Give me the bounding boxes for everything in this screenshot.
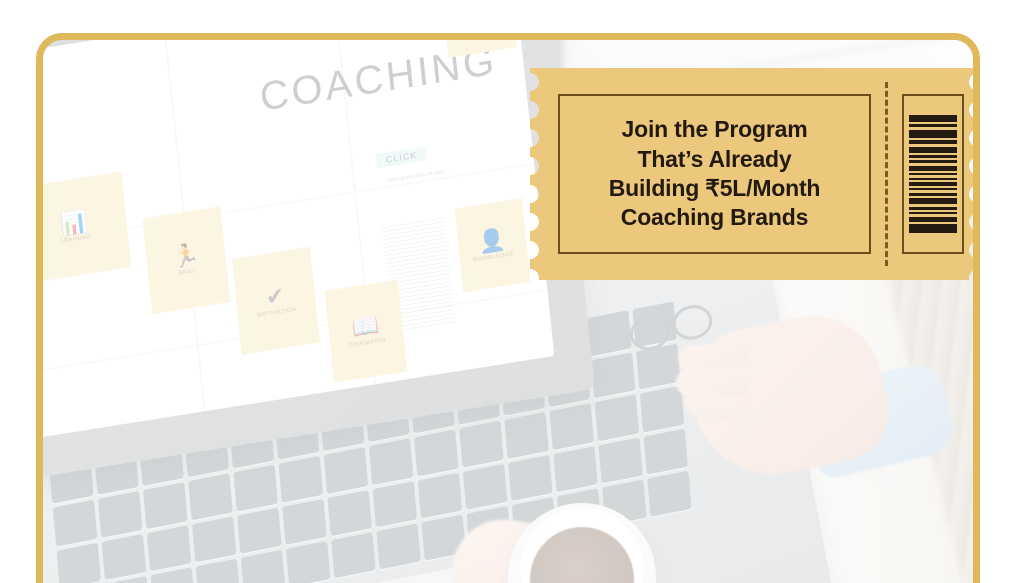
ticket-perforation-line	[885, 82, 888, 266]
screen-tile-training: 📊 TRAINING	[43, 172, 132, 284]
screen-tile-motivation: ✔ MOTIVATION	[232, 247, 320, 355]
barcode-bar	[909, 193, 957, 196]
barcode-bar	[909, 217, 957, 222]
barcode-bar	[909, 207, 957, 210]
knowledge-icon: 👤	[477, 228, 506, 254]
education-icon: 📖	[351, 314, 380, 340]
barcode-bar	[909, 198, 957, 204]
coffee-liquid	[530, 527, 634, 583]
screen-tile-education: 📖 EDUCATION	[325, 280, 408, 383]
barcode-bar	[909, 166, 957, 171]
laptop-screen: COACHING CLICK Lorem ipsum dolor sit ame…	[43, 40, 555, 439]
barcode-icon	[909, 115, 957, 233]
barcode-bar	[909, 224, 957, 233]
ticket-main-panel: Join the Program That’s Already Building…	[558, 94, 871, 254]
skill-icon: 🏃	[172, 244, 201, 270]
headline-line-2: That’s Already	[637, 146, 791, 172]
banner-canvas: COACHING CLICK Lorem ipsum dolor sit ame…	[0, 0, 1024, 583]
training-icon: 📊	[60, 211, 89, 237]
rounded-frame: COACHING CLICK Lorem ipsum dolor sit ame…	[36, 33, 980, 583]
barcode-bar	[909, 182, 957, 186]
barcode-bar	[909, 212, 957, 214]
tile-caption: MOTIVATION	[257, 307, 297, 319]
barcode-bar	[909, 124, 957, 127]
barcode-bar	[909, 130, 957, 138]
screen-tile-skill: 🏃 SKILL	[143, 207, 231, 315]
headline-line-3: Building ₹5L/Month	[609, 175, 821, 201]
barcode-bar	[909, 173, 957, 175]
screen-tile-knowledge: 👤 KNOWLEDGE	[454, 198, 531, 293]
barcode-bar	[909, 115, 957, 122]
barcode-bar	[909, 155, 957, 158]
headline-line-4: Coaching Brands	[621, 204, 808, 230]
ticket-headline: Join the Program That’s Already Building…	[603, 115, 827, 233]
ticket-stub	[902, 94, 964, 254]
tile-caption: SKILL	[179, 268, 197, 277]
headline-line-1: Join the Program	[622, 116, 808, 142]
barcode-bar	[909, 178, 957, 180]
ticket-overlay: Join the Program That’s Already Building…	[530, 68, 978, 280]
barcode-bar	[909, 160, 957, 163]
barcode-bar	[909, 188, 957, 190]
barcode-bar	[909, 140, 957, 144]
motivation-icon: ✔	[265, 285, 286, 310]
barcode-bar	[909, 147, 957, 153]
